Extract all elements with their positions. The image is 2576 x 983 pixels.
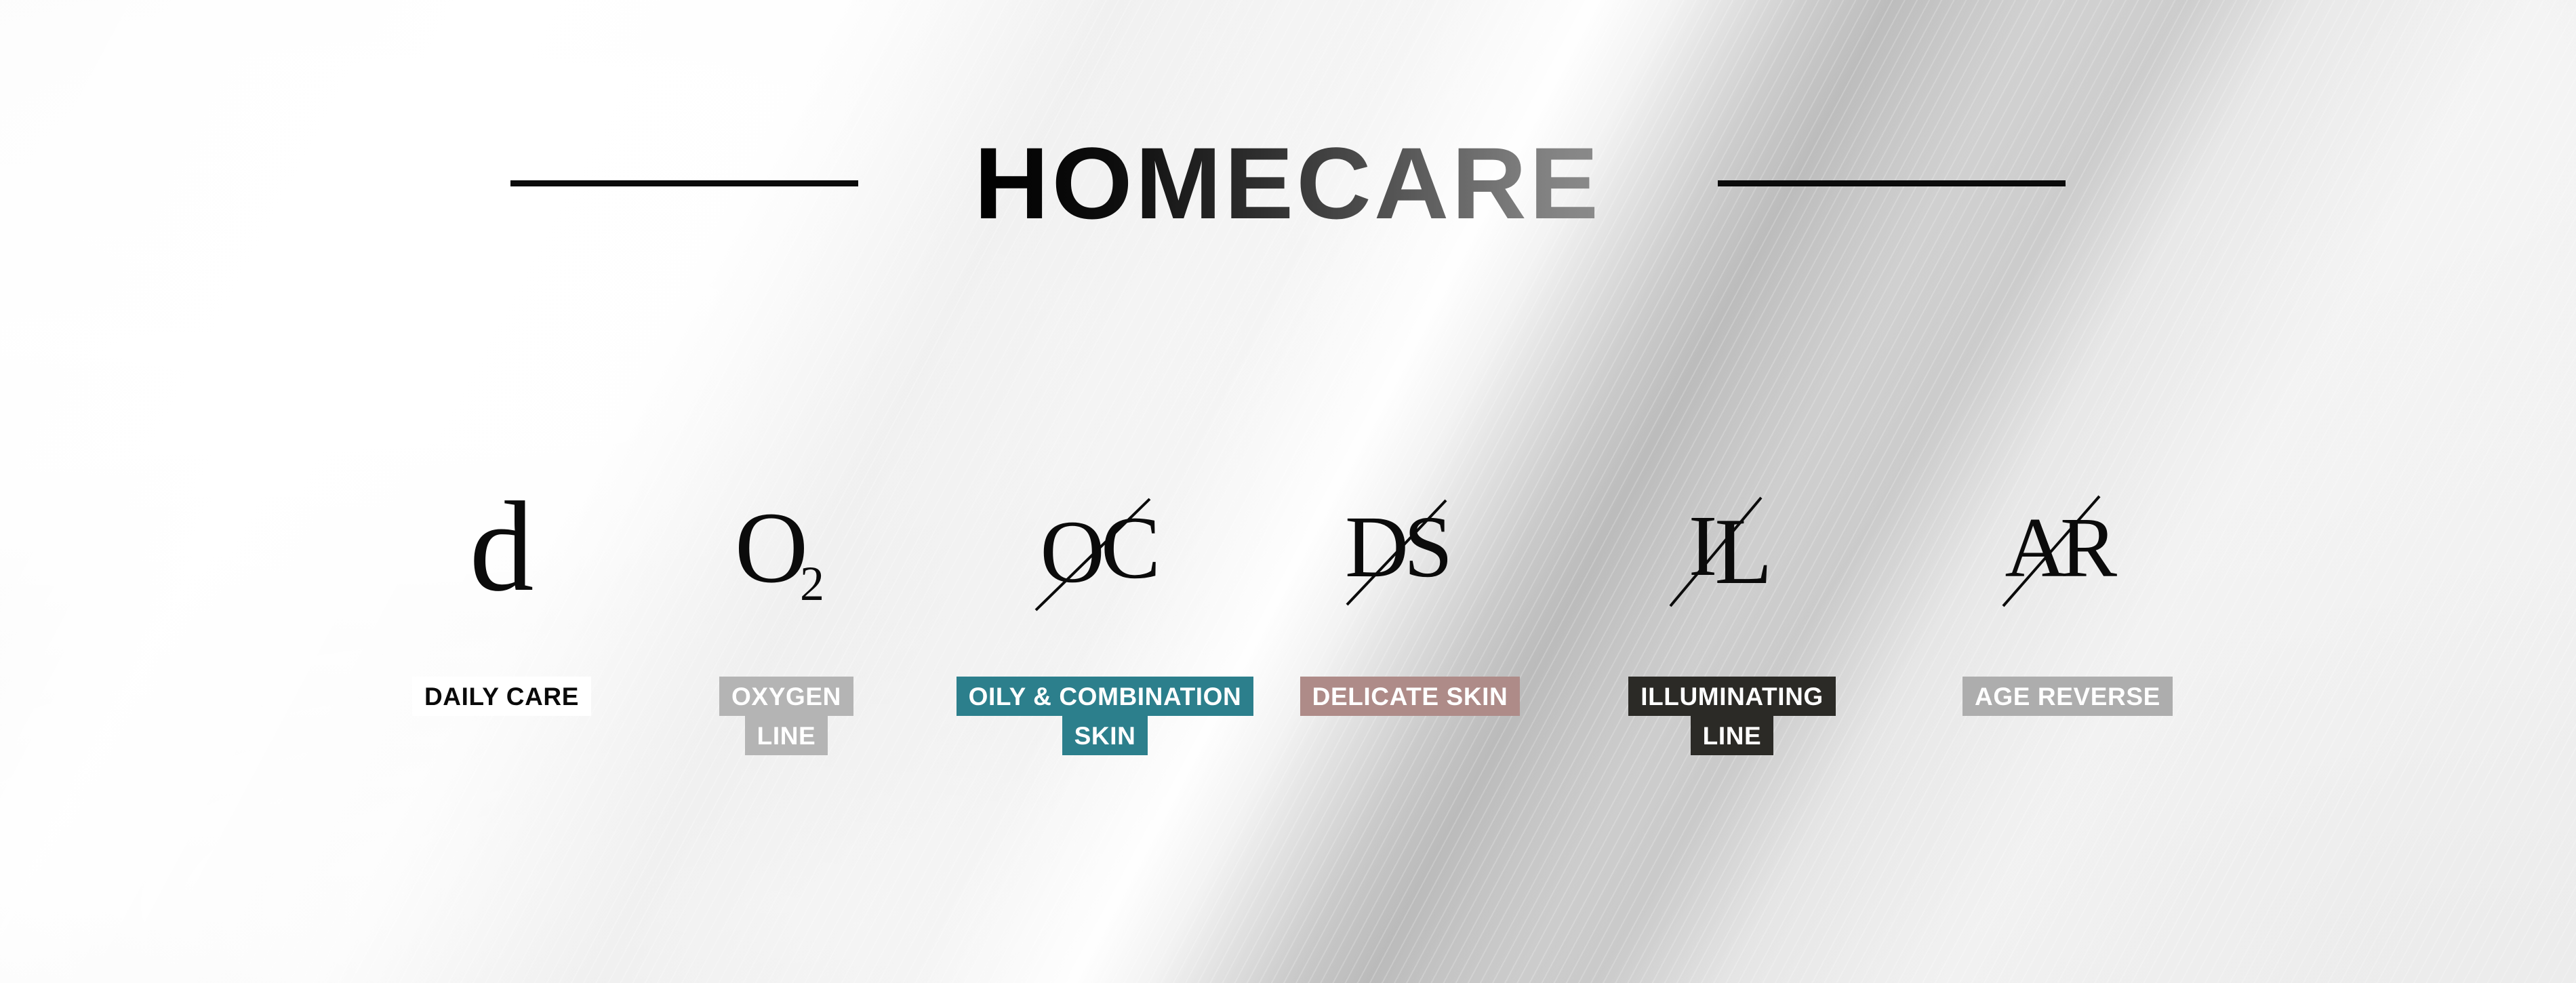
badge-age-reverse[interactable]: AGE REVERSE: [1891, 677, 2244, 716]
monogram-il-icon: I L: [1556, 495, 1908, 617]
svg-text:S: S: [1404, 498, 1453, 596]
svg-text:A: A: [2005, 501, 2067, 595]
badge-line-2: LINE: [1691, 716, 1774, 755]
badge-delicate-skin[interactable]: DELICATE SKIN: [1234, 677, 1586, 716]
svg-text:D: D: [1345, 498, 1409, 596]
monogram-oc-icon: O C: [929, 495, 1281, 617]
svg-text:d: d: [470, 476, 534, 618]
svg-text:O: O: [735, 491, 808, 604]
badge-line-1: DELICATE SKIN: [1300, 677, 1521, 716]
badge-oily-combination-skin[interactable]: OILY & COMBINATION SKIN: [929, 677, 1281, 755]
badge-line-1: DAILY CARE: [412, 677, 591, 716]
product-line-oily-combination[interactable]: O C OILY & COMBINATION SKIN: [929, 495, 1281, 617]
monogram-ar-icon: A R: [1891, 495, 2244, 617]
monogram-ds-icon: D S: [1234, 495, 1586, 617]
banner-header: HOMECARE: [0, 125, 2576, 241]
product-line-illuminating[interactable]: I L ILLUMINATING LINE: [1556, 495, 1908, 617]
badge-line-1: OXYGEN: [719, 677, 853, 716]
svg-text:2: 2: [800, 557, 824, 611]
svg-text:R: R: [2060, 501, 2117, 595]
badge-line-2: SKIN: [1062, 716, 1148, 755]
product-line-age-reverse[interactable]: A R AGE REVERSE: [1891, 495, 2244, 617]
badge-line-1: ILLUMINATING: [1628, 677, 1836, 716]
header-rule-right-icon: [1718, 180, 2066, 186]
product-line-row: d DAILY CARE O 2 OXYGEN LINE: [0, 495, 2576, 780]
homecare-banner: HOMECARE d DAILY CARE O 2 O: [0, 0, 2576, 983]
badge-illuminating-line[interactable]: ILLUMINATING LINE: [1556, 677, 1908, 755]
svg-text:C: C: [1101, 498, 1161, 597]
product-line-delicate-skin[interactable]: D S DELICATE SKIN: [1234, 495, 1586, 617]
monogram-o2-icon: O 2: [610, 495, 963, 617]
page-title: HOMECARE: [974, 132, 1601, 234]
header-rule-left-icon: [510, 180, 858, 186]
badge-oxygen-line[interactable]: OXYGEN LINE: [610, 677, 963, 755]
product-line-oxygen[interactable]: O 2 OXYGEN LINE: [610, 495, 963, 617]
svg-text:L: L: [1714, 499, 1773, 604]
badge-line-2: LINE: [745, 716, 828, 755]
badge-line-1: AGE REVERSE: [1963, 677, 2173, 716]
badge-line-1: OILY & COMBINATION: [957, 677, 1254, 716]
